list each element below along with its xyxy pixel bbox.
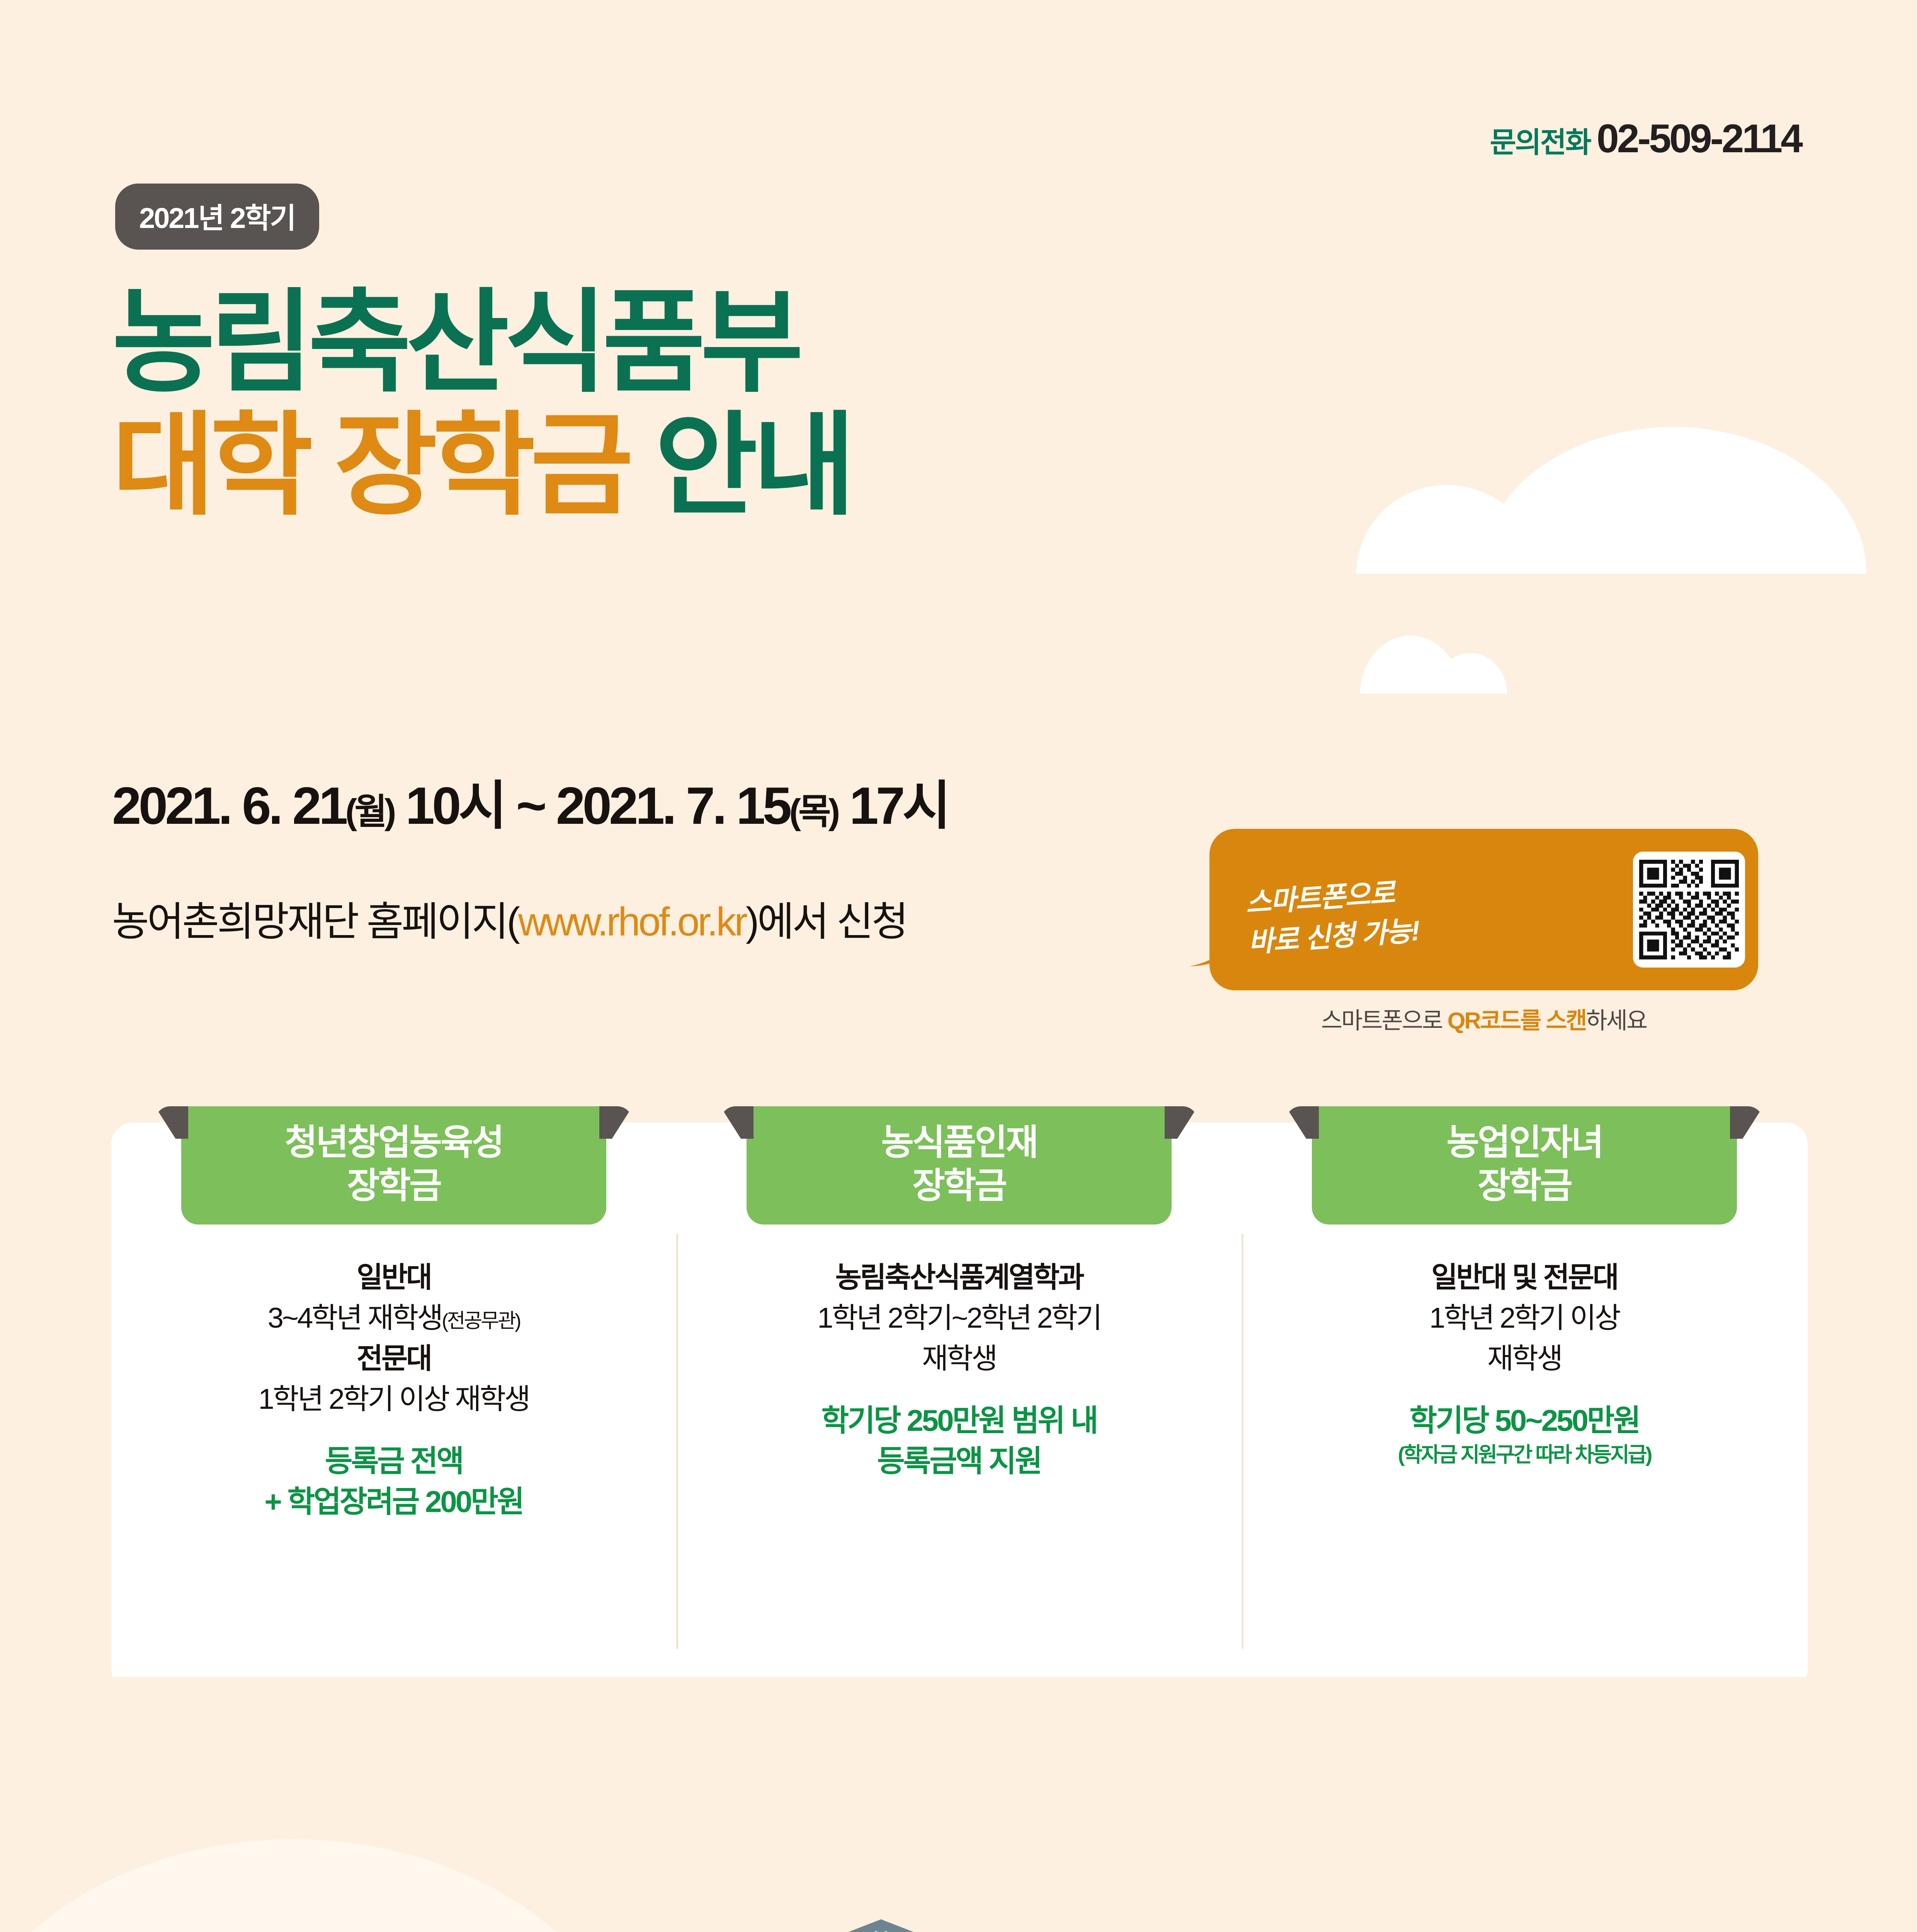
ribbon-line-2: 장학금 [1312,1164,1737,1207]
scholarship-panel: 청년창업농육성 장학금 일반대 3~4학년 재학생(전공무관) 전문대 1학년 … [111,1122,1808,1690]
site-prefix: 농어촌희망재단 홈페이지( [112,900,518,944]
amount-line-1: 등록금 전액 [124,1441,663,1481]
ribbon-tab-left [1286,1106,1319,1139]
semester-badge: 2021년 2학기 [115,184,319,250]
card-ribbon: 농식품인재 장학금 [747,1106,1172,1225]
scholarship-card-youth-startup[interactable]: 청년창업농육성 장학금 일반대 3~4학년 재학생(전공무관) 전문대 1학년 … [111,1122,676,1690]
eligibility-item: 3~4학년 재학생(전공무관) [124,1298,663,1338]
title-orange-part: 대학 장학금 [112,403,629,528]
ribbon-line-1: 농식품인재 [747,1121,1172,1164]
site-suffix: )에서 신청 [746,900,907,944]
application-period: 2021. 6. 21(월) 10시 ~ 2021. 7. 15(목) 17시 [112,763,948,839]
farm-illustration [0,1677,1917,1932]
amount-note: (학자금 지원구간 따라 차등지급) [1255,1441,1794,1469]
award-amount: 등록금 전액 + 학업장려금 200만원 [124,1441,663,1522]
eligibility-item: 재학생 [690,1338,1228,1379]
ribbon-line-1: 청년창업농육성 [181,1121,606,1164]
qr-speech-bubble: 스마트폰으로 바로 신청 가능! [1209,829,1758,990]
eligibility-item: 재학생 [1255,1338,1794,1379]
scholarship-card-farmer-children[interactable]: 농업인자녀 장학금 일반대 및 전문대 1학년 2학기 이상 재학생 학기당 5… [1242,1122,1807,1690]
eligibility-note: (전공무관) [442,1310,520,1332]
qr-caption-accent: QR코드를 스캔 [1448,1008,1586,1034]
card-ribbon: 청년창업농육성 장학금 [181,1106,606,1225]
eligibility-item: 1학년 2학기~2학년 2학기 [690,1298,1228,1338]
eligibility-list: 일반대 및 전문대 1학년 2학기 이상 재학생 [1255,1257,1794,1379]
eligibility-item: 일반대 [124,1257,663,1298]
eligibility-item: 전문대 [124,1338,663,1379]
eligibility-item: 1학년 2학기 이상 재학생 [124,1379,663,1419]
period-start-date: 2021. 6. 21 [112,776,345,835]
qr-code[interactable] [1633,852,1745,968]
award-amount: 학기당 50~250만원 (학자금 지원구간 따라 차등지급) [1255,1400,1794,1469]
period-end-time: 17시 [849,776,948,835]
ribbon-line-2: 장학금 [181,1164,606,1207]
qr-caption-suffix: 하세요 [1586,1008,1647,1034]
title-green-part: 안내 [655,403,851,528]
period-end-day: (목) [789,792,837,832]
card-body: 농림축산식품계열학과 1학년 2학기~2학년 2학기 재학생 학기당 250만원… [677,1257,1242,1481]
qr-caption: 스마트폰으로 QR코드를 스캔하세요 [1209,1002,1758,1036]
eligibility-item: 일반대 및 전문대 [1255,1257,1794,1298]
amount-line-2: + 학업장려금 200만원 [124,1481,663,1522]
eligibility-list: 농림축산식품계열학과 1학년 2학기~2학년 2학기 재학생 [690,1257,1228,1379]
ribbon-tab-right [1730,1106,1763,1139]
qr-caption-prefix: 스마트폰으로 [1321,1008,1448,1034]
ribbon-line-1: 농업인자녀 [1312,1121,1737,1164]
eligibility-item: 1학년 2학기 이상 [1255,1298,1794,1338]
qr-section: 스마트폰으로 바로 신청 가능! [1209,829,1758,1036]
period-separator: ~ [516,776,544,835]
amount-line-1: 학기당 250만원 범위 내 [690,1400,1228,1441]
ribbon-line-2: 장학금 [747,1164,1172,1207]
card-body: 일반대 3~4학년 재학생(전공무관) 전문대 1학년 2학기 이상 재학생 등… [111,1257,676,1522]
application-site: 농어촌희망재단 홈페이지(www.rhof.or.kr)에서 신청 [112,889,907,947]
page-title: 농림축산식품부 대학 장학금 안내 [112,286,851,523]
poster: 문의전화 02-509-2114 2021년 2학기 농림축산식품부 대학 장학… [0,0,1917,1932]
eligibility-item: 농림축산식품계열학과 [690,1257,1228,1298]
amount-line-2: 등록금액 지원 [690,1441,1228,1481]
card-body: 일반대 및 전문대 1학년 2학기 이상 재학생 학기당 50~250만원 (학… [1242,1257,1807,1469]
card-ribbon: 농업인자녀 장학금 [1312,1106,1737,1225]
scholarship-card-agrifood-talent[interactable]: 농식품인재 장학금 농림축산식품계열학과 1학년 2학기~2학년 2학기 재학생… [677,1122,1242,1690]
period-start-day: (월) [345,792,394,832]
contact-number: 02-509-2114 [1597,116,1801,162]
period-end-date: 2021. 7. 15 [556,776,789,835]
award-amount: 학기당 250만원 범위 내 등록금액 지원 [690,1400,1228,1481]
cloud-decoration [1480,427,1866,574]
ribbon-tab-right [599,1106,633,1139]
ribbon-tab-right [1165,1106,1198,1139]
title-line-1: 농림축산식품부 [112,286,851,400]
period-start-time: 10시 [405,776,504,835]
eligibility-list: 일반대 3~4학년 재학생(전공무관) 전문대 1학년 2학기 이상 재학생 [124,1257,663,1419]
site-url[interactable]: www.rhof.or.kr [518,900,746,944]
contact-info: 문의전화 02-509-2114 [1490,116,1801,162]
title-line-2: 대학 장학금 안내 [112,409,851,523]
eligibility-text: 3~4학년 재학생 [268,1302,442,1334]
ribbon-tab-left [720,1106,754,1139]
qr-bubble-text: 스마트폰으로 바로 신청 가능! [1244,857,1635,963]
ribbon-tab-left [155,1106,188,1139]
contact-label: 문의전화 [1490,119,1590,161]
amount-line-1: 학기당 50~250만원 [1255,1400,1794,1441]
